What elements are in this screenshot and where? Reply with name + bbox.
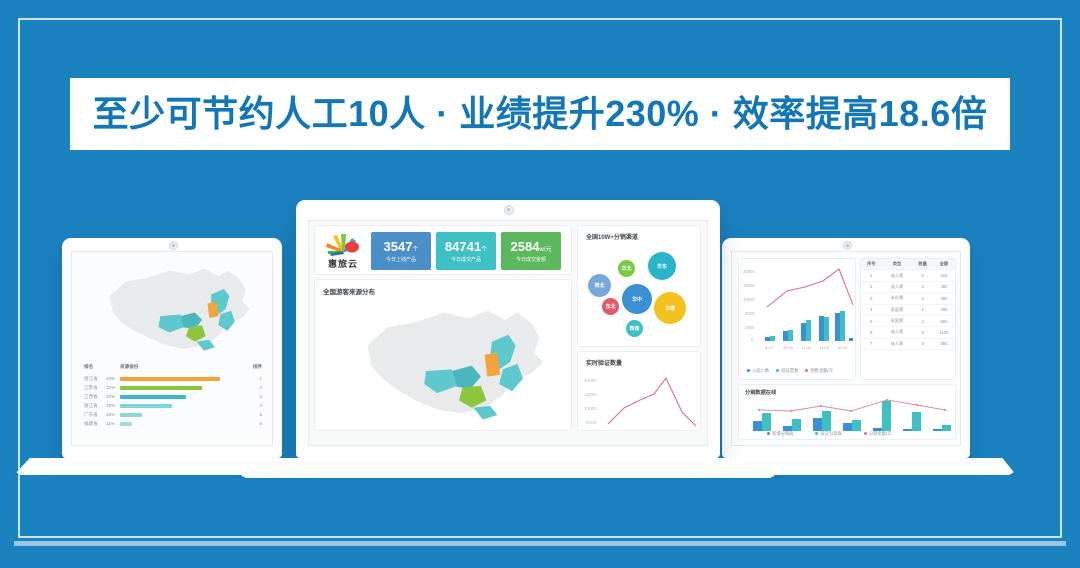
kpi-card-sales-amount[interactable]: 2584w/元 今日成交金额 xyxy=(501,232,561,270)
cell-no: 3 xyxy=(861,293,882,304)
province-pct: 19% xyxy=(106,403,120,408)
bubble-huadong[interactable]: 华东 xyxy=(648,252,676,280)
webcam-icon xyxy=(843,241,852,250)
cell-type: 成人票 xyxy=(882,327,913,338)
cell-qty: 3 xyxy=(912,281,933,292)
bubble-xibei[interactable]: 西北 xyxy=(588,274,611,297)
center-channel-title: 全国10W+分销渠道 xyxy=(586,232,638,241)
kpi-value: 3547个 xyxy=(384,240,419,253)
table-row[interactable]: 1 成人票 2 410 xyxy=(861,270,955,281)
kpi-unit: w/元 xyxy=(539,247,551,253)
province-bar xyxy=(120,395,186,399)
bubble-huazhong[interactable]: 华中 xyxy=(622,284,652,314)
list-item[interactable]: 浙江省 19% 4 xyxy=(84,401,262,410)
center-channel-panel: 全国10W+分销渠道 华北 华东 西北 华中 东北 华南 西南 xyxy=(577,225,701,347)
left-ranking-header: 排名 来源省份 排序 xyxy=(84,364,262,374)
bubble-label: 华东 xyxy=(657,263,667,270)
bubble-chart: 华北 华东 西北 华中 东北 华南 西南 xyxy=(584,246,696,342)
y-tick-20000: 20000 xyxy=(584,378,597,383)
webcam-icon xyxy=(504,205,514,215)
brand-logo[interactable]: 惠旅云 xyxy=(321,230,365,270)
province-pct: 11% xyxy=(106,421,120,426)
province-name: 广东省 xyxy=(84,412,106,418)
legend-item[interactable]: 成交分销商 xyxy=(815,431,841,437)
y-tick-10000: 10000 xyxy=(743,297,755,302)
laptop-center: 惠旅云 3547个 今日上线产品 84741个 今日成交产品 xyxy=(296,200,720,458)
th-qty: 数量 xyxy=(912,259,933,270)
province-pct: 20% xyxy=(106,394,120,399)
province-pct: 15% xyxy=(106,412,120,417)
province-rank: 2 xyxy=(202,385,262,390)
bubble-huabei[interactable]: 华北 xyxy=(618,260,635,277)
province-rank: 5 xyxy=(142,412,262,417)
col-rank-label: 排名 xyxy=(84,364,106,374)
x-tick-800: 8:00 xyxy=(765,345,774,350)
cell-qty: 2 xyxy=(912,270,933,281)
y-tick-1000: 1000 xyxy=(745,325,755,330)
kpi-unit: 个 xyxy=(412,247,418,253)
province-name: 江苏省 xyxy=(84,385,106,391)
y-tick-5000: 5000 xyxy=(586,420,597,425)
laptop-right: 20000 15000 10000 5000 1000 0 xyxy=(722,238,970,458)
province-rank: 6 xyxy=(132,421,262,426)
table-row[interactable]: 3 半价票 2 360 xyxy=(861,293,955,304)
center-header-panel: 惠旅云 3547个 今日上线产品 84741个 今日成交产品 xyxy=(314,225,572,275)
cell-type: 半价票 xyxy=(882,293,913,304)
y-tick-15000: 15000 xyxy=(743,283,755,288)
cell-qty: 1 xyxy=(912,304,933,315)
laptop-center-lid: 惠旅云 3547个 今日上线产品 84741个 今日成交产品 xyxy=(296,200,720,458)
fan-logo-icon xyxy=(321,230,365,256)
x-tick-1400: 14:00 xyxy=(819,345,830,350)
cell-no: 5 xyxy=(861,315,882,326)
kpi-card-sold-products[interactable]: 84741个 今日成交产品 xyxy=(436,232,496,270)
province-bar xyxy=(120,377,220,381)
province-bar xyxy=(120,422,132,426)
bubble-huanan[interactable]: 华南 xyxy=(654,292,686,324)
x-tick-1200: 12:00 xyxy=(801,345,812,350)
decorative-frame-bottom xyxy=(14,541,1066,546)
bubble-dongbei[interactable]: 东北 xyxy=(602,298,619,315)
poster-canvas: 至少可节约人工10人 · 业绩提升230% · 效率提高18.6倍 xyxy=(0,0,1080,568)
cell-no: 6 xyxy=(861,327,882,338)
cell-type: 成人票 xyxy=(882,281,913,292)
y-tick-10000: 10000 xyxy=(584,406,597,411)
left-ranking-list: 排名 来源省份 排序 浙江省 23% 1 江苏省 22% xyxy=(84,364,262,428)
laptop-right-screen: 20000 15000 10000 5000 1000 0 xyxy=(731,251,961,446)
kpi-label: 今日成交产品 xyxy=(451,256,481,263)
list-item[interactable]: 广东省 15% 5 xyxy=(84,410,262,419)
col-province-label: 来源省份 xyxy=(120,364,246,374)
legend-label: 预售金额/元 xyxy=(810,368,833,373)
center-kpi-row: 3547个 今日上线产品 84741个 今日成交产品 2584w/元 今日成交金… xyxy=(371,232,561,270)
kpi-label: 今日成交金额 xyxy=(516,256,546,263)
province-rank: 4 xyxy=(172,403,262,408)
cell-type: 家庭票 xyxy=(882,315,913,326)
cell-amt: 1100 xyxy=(933,327,955,338)
cell-qty: 4 xyxy=(912,338,933,349)
laptop-left-lid: 排名 来源省份 排序 浙江省 23% 1 江苏省 22% xyxy=(62,238,282,458)
legend-item[interactable]: 入园人数 xyxy=(747,368,769,374)
laptop-center-screen: 惠旅云 3547个 今日上线产品 84741个 今日成交产品 xyxy=(308,220,708,446)
cell-amt: 460 xyxy=(933,281,955,292)
legend-item[interactable]: 新增分销商 xyxy=(767,431,793,437)
right-distributor-legend: 新增分销商 成交分销商 分销金额/元 xyxy=(767,431,892,437)
province-bar xyxy=(120,386,202,390)
kpi-card-online-products[interactable]: 3547个 今日上线产品 xyxy=(371,232,431,270)
distributor-panel-title: 分销数据在线 xyxy=(745,389,776,396)
cell-no: 7 xyxy=(861,338,882,349)
cell-type: 家庭票 xyxy=(882,304,913,315)
cell-no: 1 xyxy=(861,270,882,281)
y-tick-0: 0 xyxy=(751,337,754,342)
center-realtime-title: 实时验证数量 xyxy=(586,358,622,367)
list-item[interactable]: 江苏省 22% 2 xyxy=(84,383,262,392)
laptop-center-base xyxy=(238,458,778,478)
kpi-value: 2584w/元 xyxy=(511,240,552,253)
table-header-row: 序号 类型 数量 金额 xyxy=(861,259,955,270)
cell-type: 成人票 xyxy=(882,338,913,349)
kpi-label: 今日上线产品 xyxy=(386,256,416,263)
legend-label: 新增分销商 xyxy=(772,431,793,436)
legend-label: 验证票数 xyxy=(781,368,798,373)
table-row[interactable]: 7 成人票 4 550 xyxy=(861,338,955,349)
cell-qty: 2 xyxy=(912,293,933,304)
cell-amt: 400 xyxy=(933,304,955,315)
laptop-left: 排名 来源省份 排序 浙江省 23% 1 江苏省 22% xyxy=(62,238,282,458)
right-distributor-panel: 分销数据在线 xyxy=(738,384,956,440)
table-row[interactable]: 6 成人票 8 1100 xyxy=(861,327,955,338)
province-pct: 23% xyxy=(106,376,120,381)
cell-amt: 560 xyxy=(933,315,955,326)
cell-qty: 8 xyxy=(912,327,933,338)
th-type: 类型 xyxy=(882,259,913,270)
cell-amt: 550 xyxy=(933,338,955,349)
center-map-title: 全国游客来源分布 xyxy=(323,286,375,296)
province-bar xyxy=(120,404,172,408)
cell-type: 成人票 xyxy=(882,270,913,281)
bubble-label: 西北 xyxy=(594,282,604,289)
brand-name: 惠旅云 xyxy=(321,257,365,270)
province-name: 浙江省 xyxy=(84,376,106,382)
cell-no: 2 xyxy=(861,281,882,292)
province-bar xyxy=(120,413,142,417)
bubble-label: 东北 xyxy=(605,303,615,310)
cell-amt: 360 xyxy=(933,293,955,304)
laptop-right-lid: 20000 15000 10000 5000 1000 0 xyxy=(722,238,970,458)
province-rank: 3 xyxy=(186,394,262,399)
list-item[interactable]: 福建省 11% 6 xyxy=(84,419,262,428)
y-tick-20000: 20000 xyxy=(743,269,755,274)
center-china-map xyxy=(337,298,559,426)
th-no: 序号 xyxy=(861,259,882,270)
right-combo-legend: 入园人数 验证票数 预售金额/元 xyxy=(747,368,833,374)
table-row[interactable]: 4 家庭票 1 400 xyxy=(861,304,955,315)
province-name: 福建省 xyxy=(84,421,106,427)
table-row[interactable]: 5 家庭票 2 560 xyxy=(861,315,955,326)
y-tick-15000: 15000 xyxy=(584,392,597,397)
kpi-unit: 个 xyxy=(481,247,487,253)
y-tick-5000: 5000 xyxy=(745,311,755,316)
list-item[interactable]: 江西省 20% 3 xyxy=(84,392,262,401)
cell-qty: 2 xyxy=(912,315,933,326)
headline-banner: 至少可节约人工10人 · 业绩提升230% · 效率提高18.6倍 xyxy=(70,78,1010,150)
bubble-label: 华北 xyxy=(621,265,631,272)
legend-label: 分销金额/元 xyxy=(869,431,892,436)
ticket-table: 序号 类型 数量 金额 1 成人票 2 410 xyxy=(861,259,955,350)
center-realtime-panel: 实时验证数量 20000 15000 10000 5000 xyxy=(577,351,701,431)
left-china-map xyxy=(80,258,266,358)
col-order-label: 排序 xyxy=(246,364,262,374)
th-amt: 金额 xyxy=(933,259,955,270)
cell-no: 4 xyxy=(861,304,882,315)
headline-text: 至少可节约人工10人 · 业绩提升230% · 效率提高18.6倍 xyxy=(93,96,988,132)
legend-label: 成交分销商 xyxy=(820,431,841,436)
province-rank: 1 xyxy=(220,376,262,381)
x-tick-1600: 16:00 xyxy=(837,345,848,350)
legend-item[interactable]: 验证票数 xyxy=(776,368,798,374)
legend-label: 入园人数 xyxy=(752,368,769,373)
laptop-left-screen: 排名 来源省份 排序 浙江省 23% 1 江苏省 22% xyxy=(71,251,273,446)
kpi-value: 84741个 xyxy=(445,240,487,253)
list-item[interactable]: 浙江省 23% 1 xyxy=(84,374,262,383)
cell-amt: 410 xyxy=(933,270,955,281)
province-pct: 22% xyxy=(106,385,120,390)
webcam-icon xyxy=(169,241,178,250)
bubble-label: 华南 xyxy=(665,305,675,312)
table-row[interactable]: 2 成人票 3 460 xyxy=(861,281,955,292)
x-tick-1000: 10:00 xyxy=(783,345,794,350)
province-name: 江西省 xyxy=(84,394,106,400)
right-combo-chart-panel: 20000 15000 10000 5000 1000 0 xyxy=(738,258,856,380)
bubble-xinan[interactable]: 西南 xyxy=(626,320,643,337)
right-ticket-table-panel: 序号 类型 数量 金额 1 成人票 2 410 xyxy=(860,258,956,380)
legend-item[interactable]: 分销金额/元 xyxy=(864,431,892,437)
bubble-label: 西南 xyxy=(629,325,639,332)
center-map-panel: 全国游客来源分布 xyxy=(314,279,572,431)
legend-item[interactable]: 预售金额/元 xyxy=(805,368,833,374)
bubble-label: 华中 xyxy=(632,296,642,303)
province-name: 浙江省 xyxy=(84,403,106,409)
